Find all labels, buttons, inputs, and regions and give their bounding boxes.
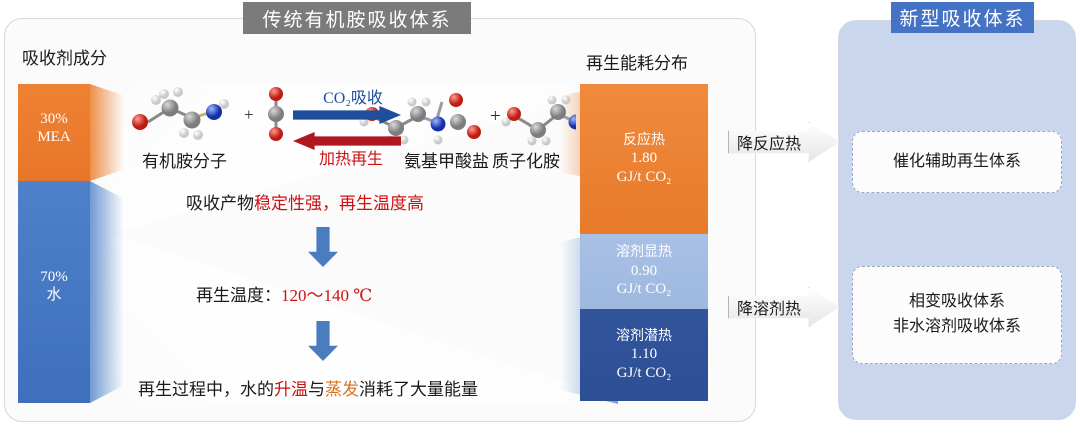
energy-bar-latent-heat: 溶剂潜热 1.10 GJ/t CO₂ <box>580 309 708 401</box>
statement-stability-highlight: 稳定性强，再生温度高 <box>254 194 424 213</box>
left-panel-title: 传统有机胺吸收体系 <box>243 2 471 34</box>
right-card-2-line1: 相变吸收体系 <box>909 290 1005 315</box>
reverse-reaction-label: 加热再生 <box>291 145 411 169</box>
svg-text:+: + <box>490 106 501 127</box>
statement-stability: 吸收产物稳定性强，再生温度高 <box>186 189 424 214</box>
infographic-root: 传统有机胺吸收体系 吸收剂成分 30% MEA 70% 水 <box>0 0 1080 436</box>
connector-label-1: 降反应热 <box>737 130 801 154</box>
statement-energy-prefix: 再生过程中，水的 <box>138 380 274 399</box>
mea-percent: 30% <box>18 110 90 128</box>
mea-name: MEA <box>18 128 90 146</box>
energy-bar-sensible-heat: 溶剂显热 0.90 GJ/t CO₂ <box>580 234 708 309</box>
statement-energy-highlight-2: 蒸发 <box>325 380 359 399</box>
energy-bar-3-name: 溶剂潜热 <box>616 328 672 346</box>
energy-bar-1-name: 反应热 <box>623 132 665 150</box>
absorption-arrow-icon <box>293 106 401 124</box>
statement-energy-suffix: 消耗了大量能量 <box>359 380 478 399</box>
caption-carbamate: 氨基甲酸盐 <box>404 147 489 172</box>
statement-energy-highlight-1: 升温 <box>274 380 308 399</box>
energy-bar-2-name: 溶剂显热 <box>616 244 672 262</box>
energy-bar-1-unit: GJ/t CO₂ <box>617 168 672 187</box>
statement-stability-prefix: 吸收产物 <box>186 194 254 213</box>
right-card-2-line2: 非水溶剂吸收体系 <box>893 315 1021 340</box>
energy-bar-2-value: 0.90 <box>631 262 657 281</box>
energy-bar-1-value: 1.80 <box>631 149 657 168</box>
energy-chart-title: 再生能耗分布 <box>586 49 688 74</box>
statement-temperature-prefix: 再生温度： <box>196 286 281 305</box>
water-slab-shadow <box>90 181 124 403</box>
right-card-phase-change[interactable]: 相变吸收体系 非水溶剂吸收体系 <box>852 266 1062 364</box>
water-name: 水 <box>18 286 90 304</box>
caption-protonated-amine: 质子化胺 <box>492 147 560 172</box>
mea-slab-label: 30% MEA <box>18 110 90 147</box>
right-card-catalytic[interactable]: 催化辅助再生体系 <box>852 131 1062 193</box>
forward-reaction-label: CO₂吸收 <box>293 84 413 108</box>
right-panel-title: 新型吸收体系 <box>891 2 1034 33</box>
energy-bar-2-unit: GJ/t CO₂ <box>617 280 672 299</box>
composition-title: 吸收剂成分 <box>22 44 107 69</box>
water-slab-label: 70% 水 <box>18 268 90 305</box>
connector-label-2: 降溶剂热 <box>737 295 801 319</box>
energy-bar-reaction-heat: 反应热 1.80 GJ/t CO₂ <box>580 84 708 234</box>
water-percent: 70% <box>18 268 90 286</box>
statement-temperature: 再生温度：120～140 ℃ <box>196 281 372 306</box>
caption-amine: 有机胺分子 <box>142 147 227 172</box>
svg-text:+: + <box>244 105 254 124</box>
statement-energy: 再生过程中，水的升温与蒸发消耗了大量能量 <box>138 375 478 400</box>
mea-slab-shadow <box>90 84 124 181</box>
right-card-1-line1: 催化辅助再生体系 <box>893 150 1021 175</box>
statement-energy-mid: 与 <box>308 380 325 399</box>
energy-bar-3-value: 1.10 <box>631 345 657 364</box>
statement-temperature-value: 120～140 ℃ <box>281 286 372 305</box>
energy-bar-3-unit: GJ/t CO₂ <box>617 364 672 383</box>
